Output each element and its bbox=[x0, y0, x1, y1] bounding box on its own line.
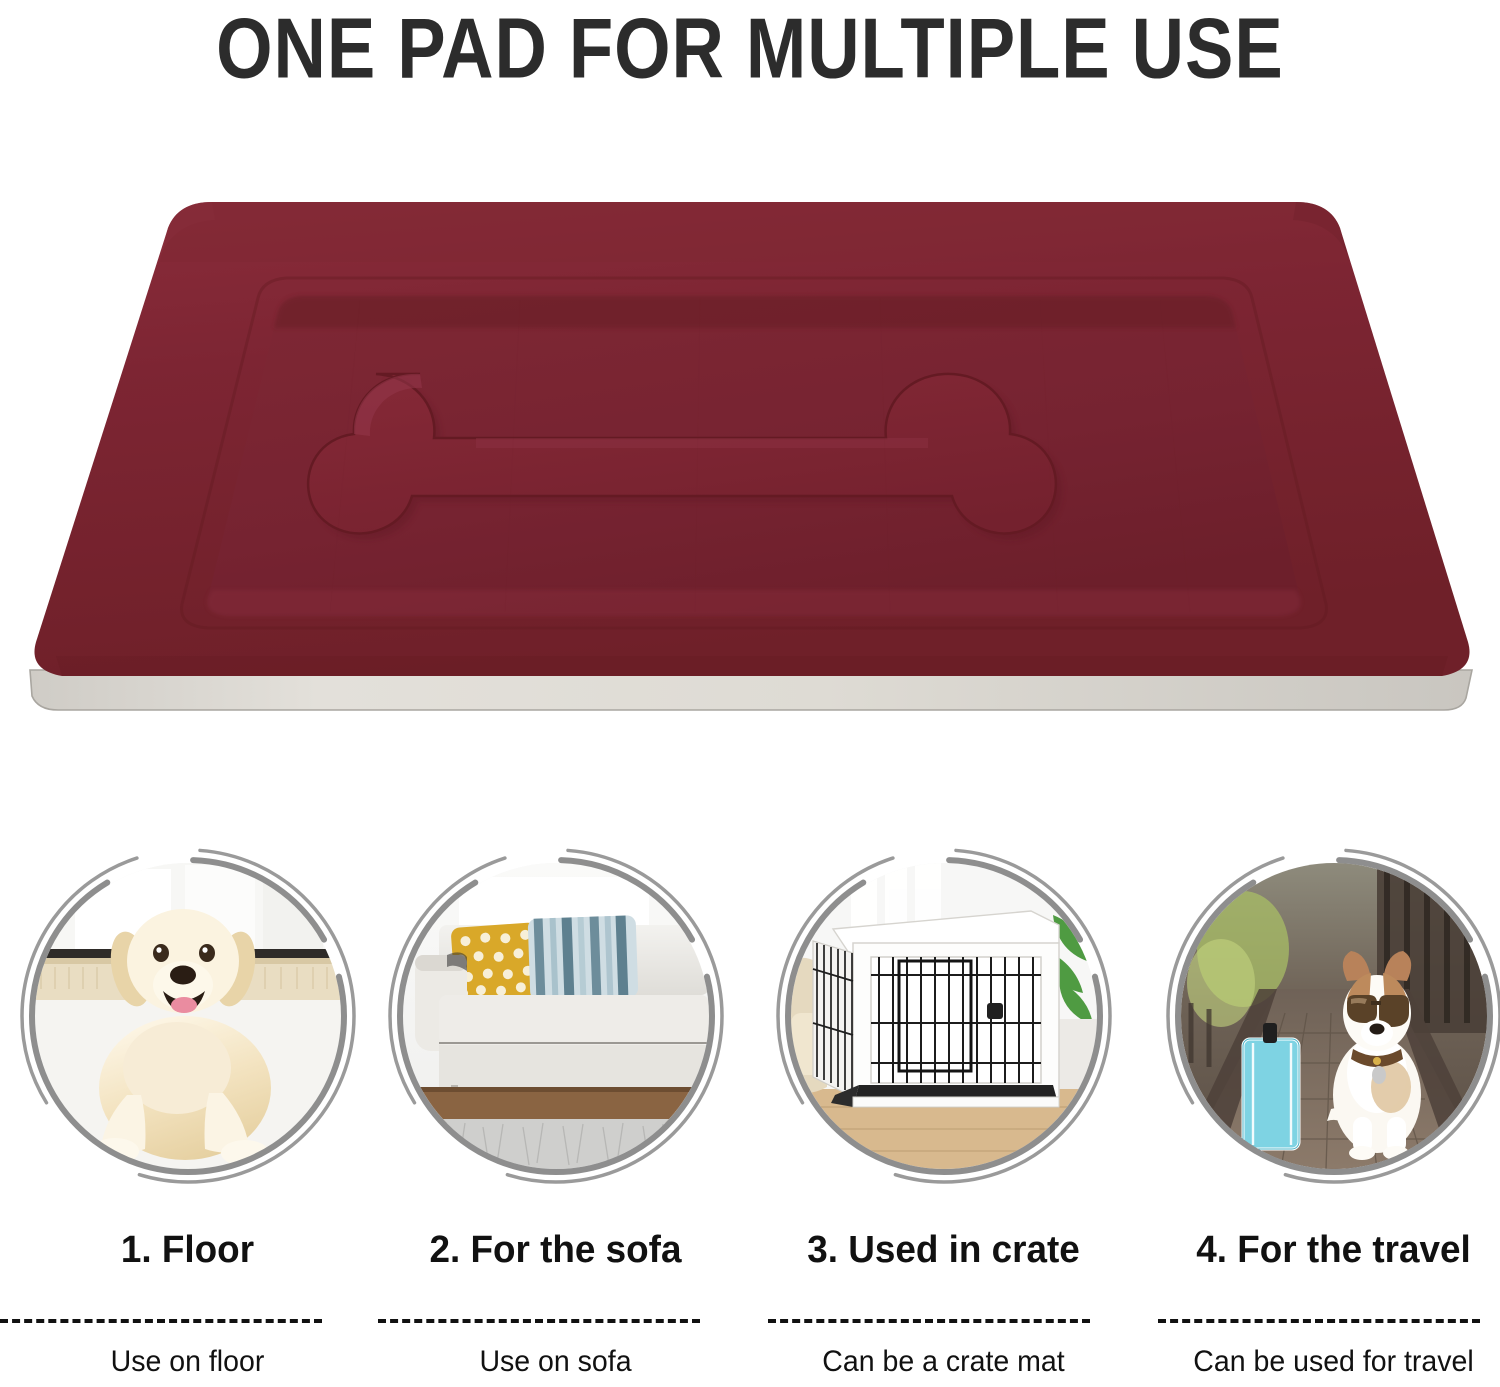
feature-circle-sofa[interactable] bbox=[386, 846, 726, 1186]
caption-divider bbox=[768, 1319, 1090, 1323]
feature-heading: 1. Floor bbox=[6, 1230, 370, 1270]
travel-scene-icon bbox=[1181, 863, 1487, 1169]
feature-card-travel[interactable]: 4. For the travel bbox=[1146, 846, 1500, 1387]
page-title-bar: ONE PAD FOR MULTIPLE USE bbox=[0, 0, 1500, 95]
feature-circle-crate[interactable] bbox=[774, 846, 1114, 1186]
infographic-page: ONE PAD FOR MULTIPLE USE bbox=[0, 0, 1500, 1387]
sofa-scene-icon bbox=[403, 863, 709, 1169]
feature-card-floor[interactable]: 1. Floor bbox=[0, 846, 375, 1387]
striped-pillow bbox=[527, 915, 638, 1001]
feature-caption: Can be used for travel bbox=[1155, 1345, 1500, 1379]
feature-heading: 3. Used in crate bbox=[762, 1230, 1126, 1270]
feature-card-sofa[interactable]: 2. For the sofa bbox=[368, 846, 743, 1387]
pet-pad-illustration bbox=[0, 150, 1500, 760]
suitcase bbox=[1243, 1023, 1299, 1149]
floor-scene-icon bbox=[35, 863, 341, 1169]
feature-caption: Can be a crate mat bbox=[765, 1345, 1121, 1379]
crate-scene-icon bbox=[791, 863, 1097, 1169]
page-title: ONE PAD FOR MULTIPLE USE bbox=[216, 5, 1283, 91]
feature-card-crate[interactable]: 3. Used in crate bbox=[756, 846, 1131, 1387]
feature-circle-floor[interactable] bbox=[18, 846, 358, 1186]
caption-divider bbox=[378, 1319, 700, 1323]
feature-circle-travel[interactable] bbox=[1164, 846, 1500, 1186]
feature-heading: 4. For the travel bbox=[1152, 1230, 1500, 1270]
feature-heading: 2. For the sofa bbox=[374, 1230, 738, 1270]
feature-caption: Use on floor bbox=[9, 1345, 365, 1379]
feature-row: 1. Floor bbox=[0, 846, 1500, 1387]
caption-divider bbox=[1158, 1319, 1480, 1323]
product-hero-image bbox=[0, 150, 1500, 760]
caption-divider bbox=[0, 1319, 322, 1323]
feature-caption: Use on sofa bbox=[377, 1345, 733, 1379]
